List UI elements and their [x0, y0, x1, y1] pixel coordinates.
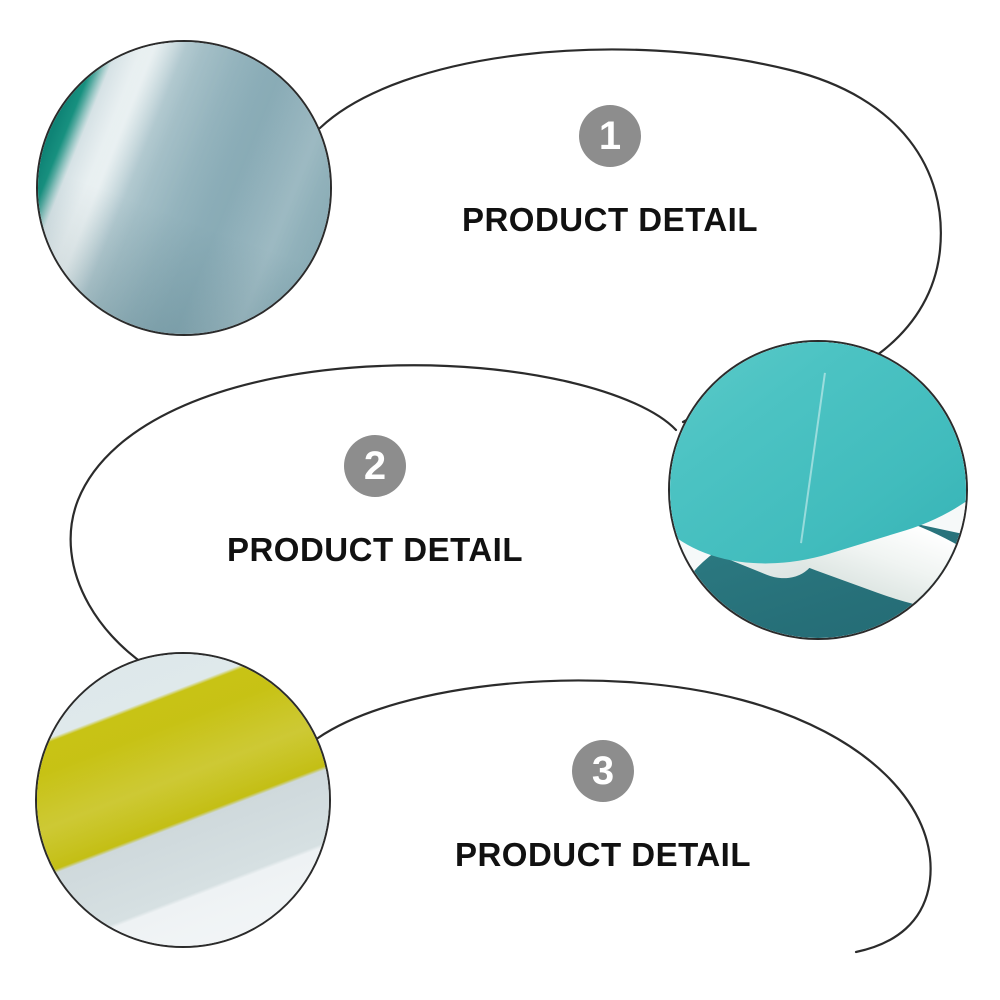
photo-3-image [37, 654, 329, 946]
photo-2-image [670, 342, 966, 638]
photo-1-shadow [36, 40, 332, 336]
product-detail-infographic: 1 PRODUCT DETAIL 2 PRODUCT DETAIL 3 PROD… [0, 0, 1000, 1000]
step-block-1: 1 PRODUCT DETAIL [450, 105, 770, 239]
photo-3-highlight [37, 654, 329, 946]
step-block-3: 3 PRODUCT DETAIL [443, 740, 763, 874]
step-badge-2: 2 [344, 435, 406, 497]
product-photo-circle-3 [35, 652, 331, 948]
photo-1-image [36, 40, 332, 336]
product-photo-circle-1 [36, 40, 332, 336]
product-photo-circle-2 [668, 340, 968, 640]
step-label-3: PRODUCT DETAIL [443, 836, 763, 874]
step-block-2: 2 PRODUCT DETAIL [215, 435, 535, 569]
step-badge-1: 1 [579, 105, 641, 167]
step-badge-3: 3 [572, 740, 634, 802]
step-label-2: PRODUCT DETAIL [215, 531, 535, 569]
step-label-1: PRODUCT DETAIL [450, 201, 770, 239]
